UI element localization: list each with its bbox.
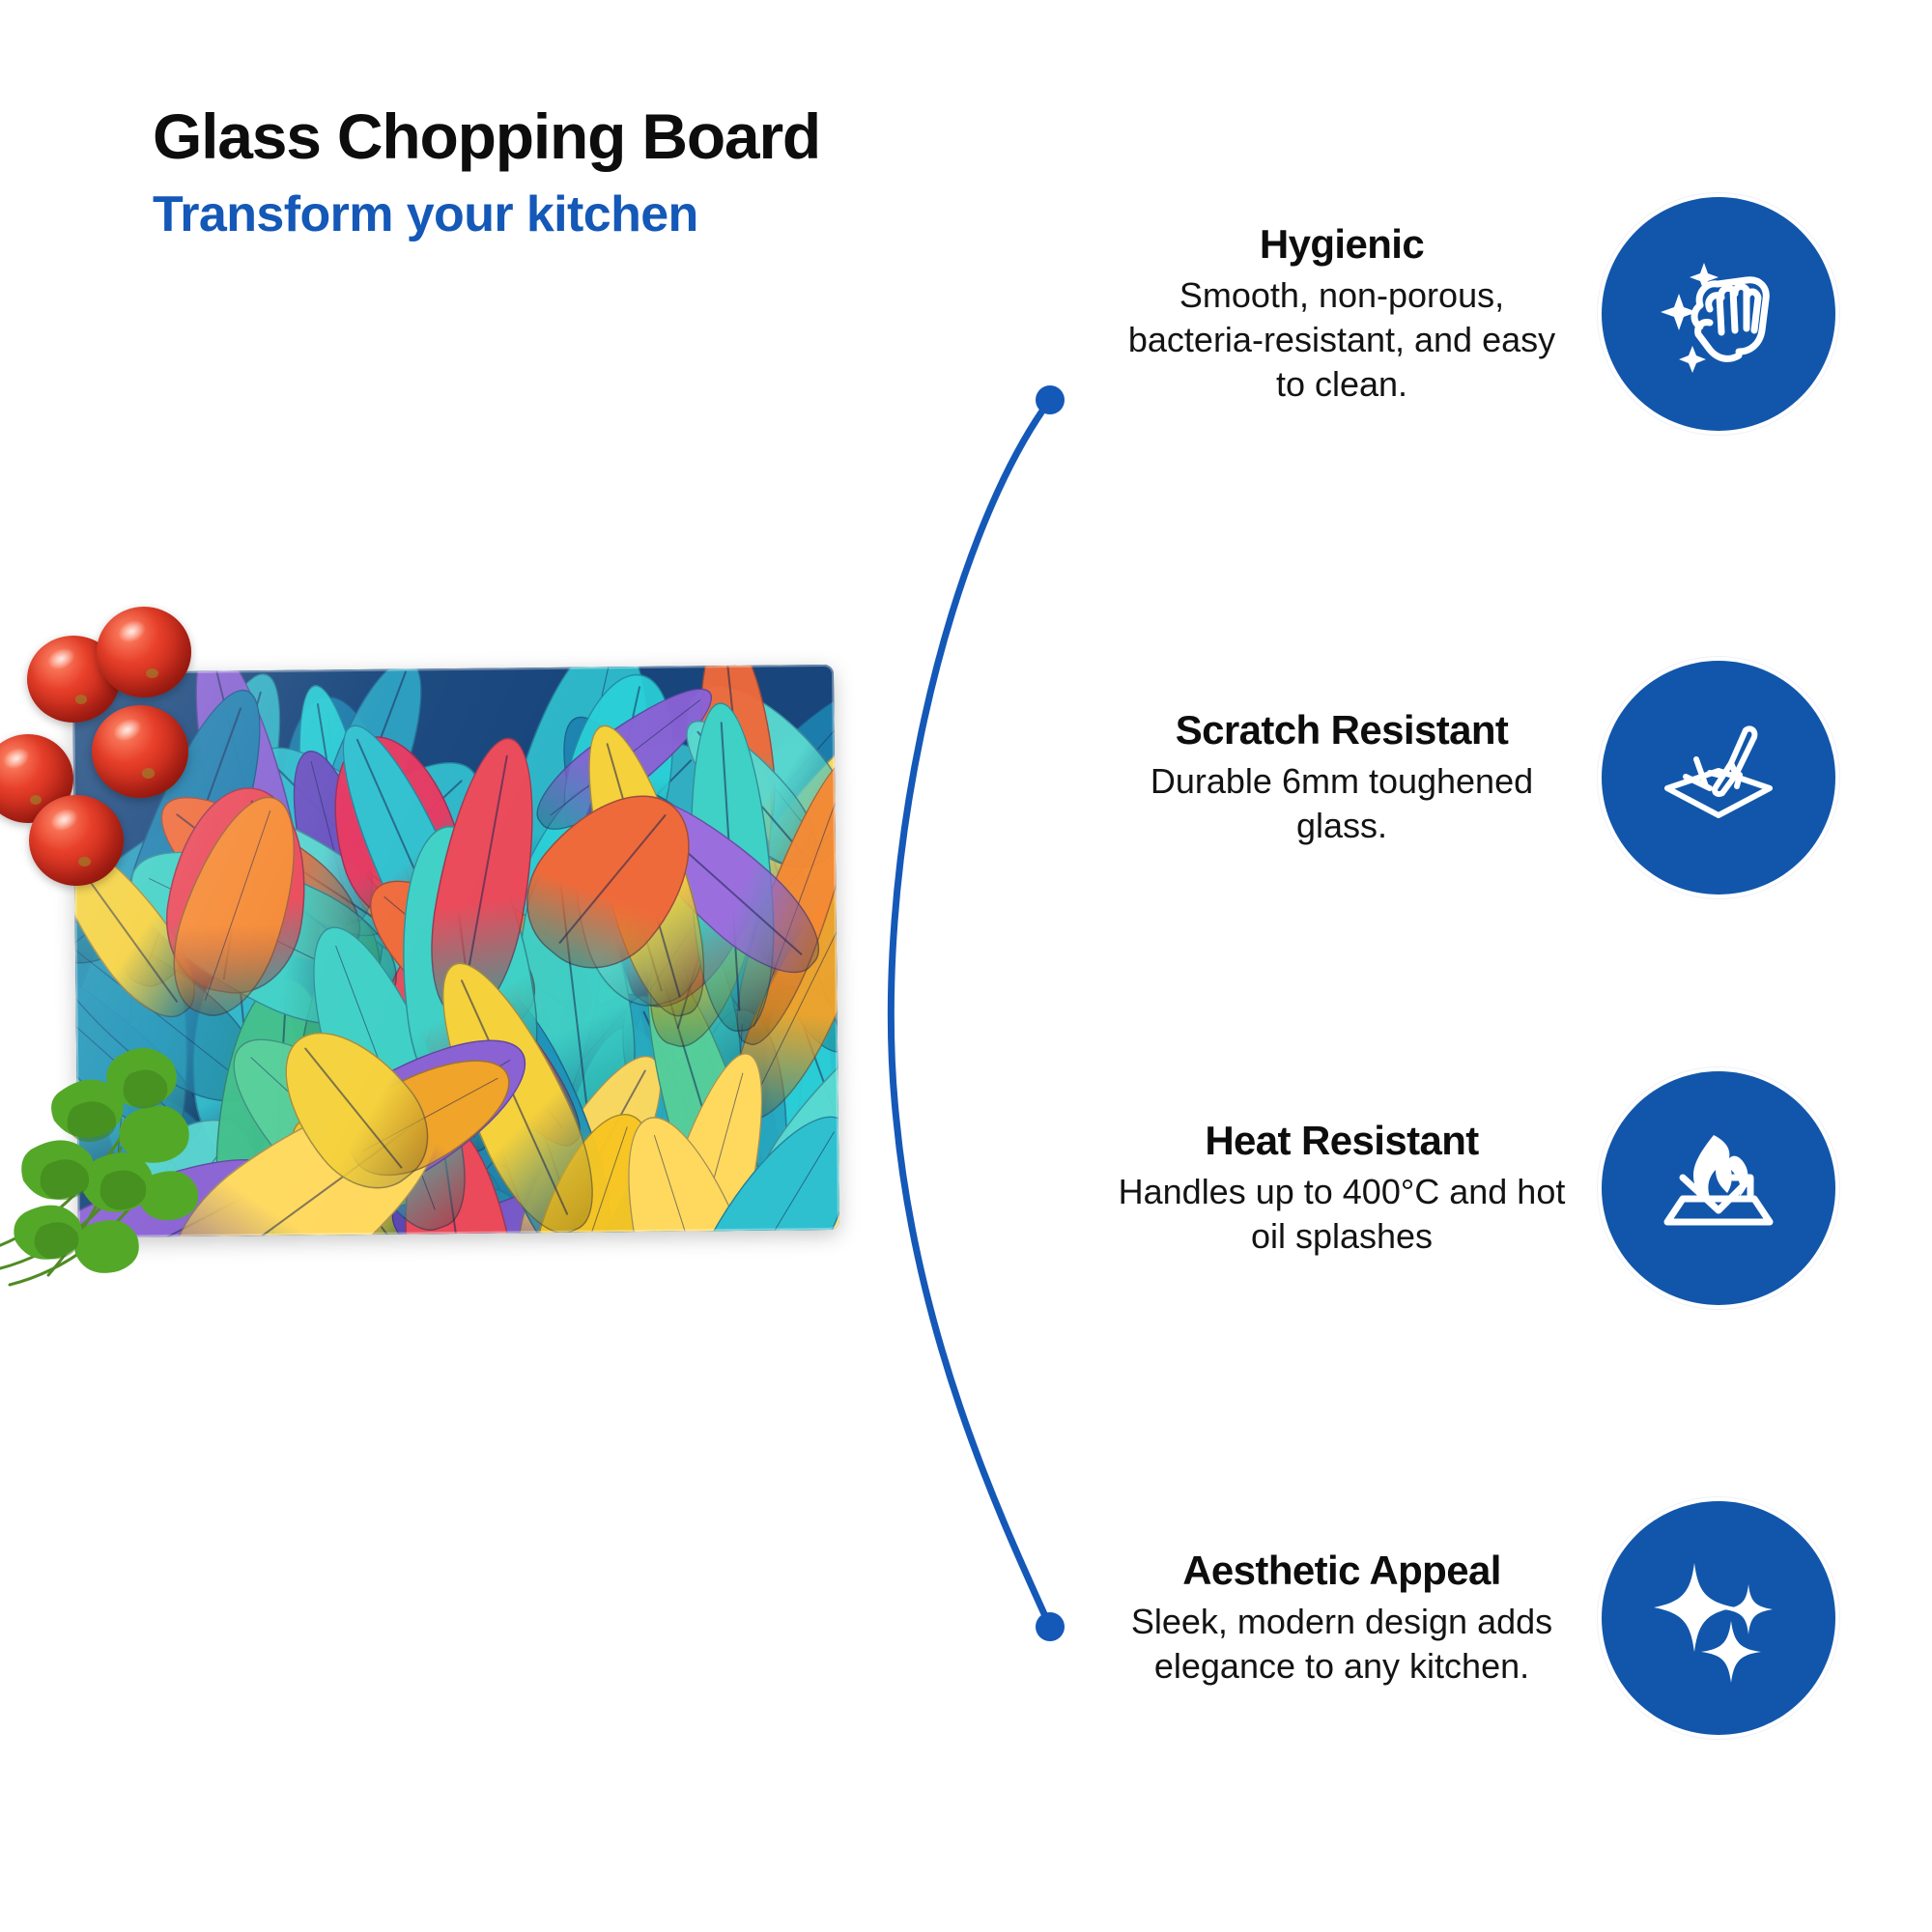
tomato <box>29 795 124 886</box>
tomato <box>97 607 191 697</box>
connector-dot-top <box>1036 385 1065 414</box>
breadcrumb <box>0 0 1932 1932</box>
parsley-icon <box>0 985 280 1294</box>
tomato <box>92 705 188 798</box>
connector-dot-bottom <box>1036 1612 1065 1641</box>
